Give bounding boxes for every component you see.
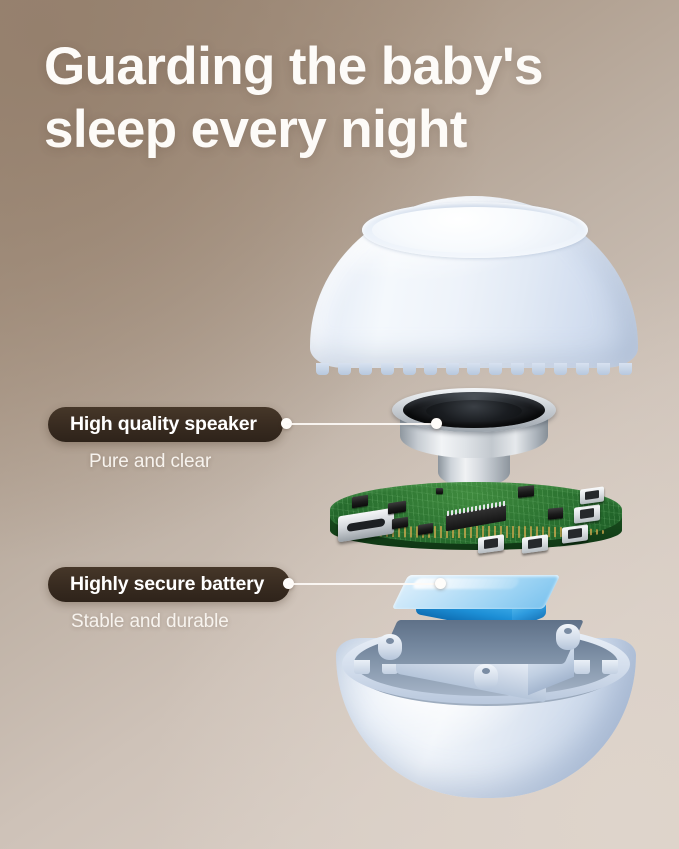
tactile-button: [522, 534, 548, 554]
battery-compartment-tray: [378, 620, 584, 710]
leader-dot-end: [431, 418, 442, 429]
callout-battery-subtitle: Stable and durable: [71, 611, 290, 633]
speaker-driver: [392, 388, 556, 492]
dome-light-panel: [372, 207, 578, 253]
pcb-component: [518, 485, 534, 498]
top-dome-cover: [310, 196, 638, 368]
callout-battery-title: Highly secure battery: [70, 573, 264, 596]
pcb-component: [548, 507, 563, 520]
pcb-component: [436, 488, 443, 494]
tactile-button: [478, 534, 504, 554]
callout-speaker-title: High quality speaker: [70, 413, 257, 436]
leader-line: [288, 583, 442, 585]
leader-dot-end: [435, 578, 446, 589]
callout-speaker-subtitle: Pure and clear: [89, 451, 283, 473]
callout-speaker-pill: High quality speaker: [48, 407, 283, 442]
leader-line: [286, 423, 438, 425]
callout-battery-pill: Highly secure battery: [48, 567, 290, 602]
screw-post: [556, 624, 580, 650]
dome-snap-tabs: [316, 363, 632, 377]
callout-battery: Highly secure battery Stable and durable: [48, 567, 290, 633]
circuit-board: [330, 482, 622, 564]
bottom-base-shell: [336, 620, 636, 798]
tray-opening: [378, 620, 584, 664]
callout-speaker: High quality speaker Pure and clear: [48, 407, 283, 473]
screw-post: [474, 664, 498, 690]
infographic-canvas: Guarding the baby's sleep every night: [0, 0, 679, 849]
screw-post: [378, 634, 402, 660]
